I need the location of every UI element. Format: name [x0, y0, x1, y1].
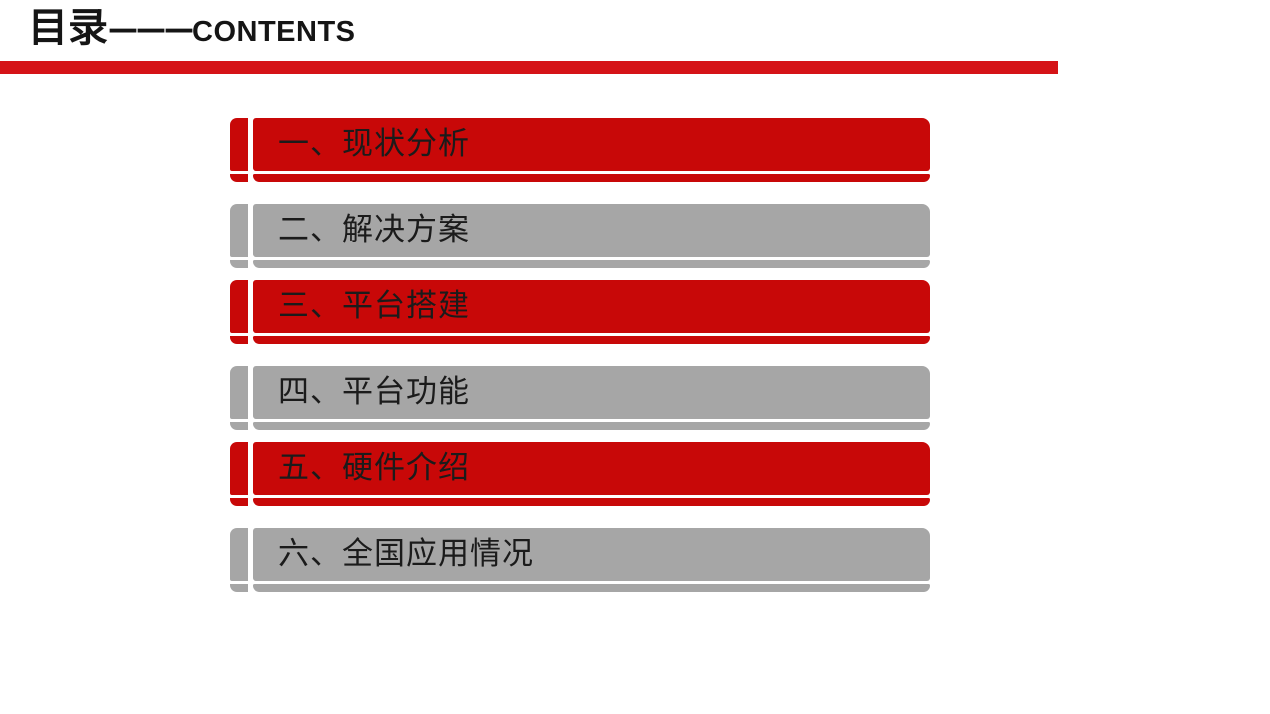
item-bar[interactable]: 四、平台功能: [253, 366, 930, 419]
item-bar-shadow: [253, 422, 930, 430]
item-bar[interactable]: 二、解决方案: [253, 204, 930, 257]
item-tab-block-shadow: [230, 498, 248, 506]
item-tab-block: [230, 442, 248, 495]
item-tab-block-shadow: [230, 422, 248, 430]
list-item[interactable]: 五、硬件介绍: [230, 442, 930, 514]
item-bar-shadow: [253, 260, 930, 268]
item-tab-block: [230, 528, 248, 581]
item-bar[interactable]: 五、硬件介绍: [253, 442, 930, 495]
item-tab-block: [230, 280, 248, 333]
list-item-label: 四、平台功能: [278, 377, 470, 408]
item-bar[interactable]: 三、平台搭建: [253, 280, 930, 333]
item-bar-shadow: [253, 584, 930, 592]
list-item[interactable]: 四、平台功能: [230, 366, 930, 430]
item-bar[interactable]: 六、全国应用情况: [253, 528, 930, 581]
item-tab-block-shadow: [230, 584, 248, 592]
item-tab-block-shadow: [230, 260, 248, 268]
list-item[interactable]: 二、解决方案: [230, 204, 930, 268]
list-item-label: 六、全国应用情况: [278, 539, 534, 570]
page-title-cn: 目录: [28, 8, 108, 48]
list-item[interactable]: 六、全国应用情况: [230, 528, 930, 592]
slide-canvas: 目录———CONTENTS 一、现状分析 二、解决方案 三、平台搭建: [0, 0, 1270, 714]
list-item-label: 五、硬件介绍: [278, 453, 470, 484]
item-tab-block: [230, 118, 248, 171]
item-tab-block: [230, 204, 248, 257]
list-item-label: 二、解决方案: [278, 215, 470, 246]
list-item[interactable]: 三、平台搭建: [230, 280, 930, 352]
list-item[interactable]: 一、现状分析: [230, 118, 930, 190]
list-item-label: 一、现状分析: [278, 129, 470, 160]
item-bar[interactable]: 一、现状分析: [253, 118, 930, 171]
item-bar-shadow: [253, 174, 930, 182]
item-bar-shadow: [253, 498, 930, 506]
item-tab-block: [230, 366, 248, 419]
contents-list: 一、现状分析 二、解决方案 三、平台搭建 四、平台功能: [230, 118, 930, 604]
header-divider-rule: [0, 61, 1058, 74]
item-tab-block-shadow: [230, 174, 248, 182]
item-tab-block-shadow: [230, 336, 248, 344]
page-title: 目录———CONTENTS: [28, 8, 356, 56]
list-item-label: 三、平台搭建: [278, 291, 470, 322]
item-bar-shadow: [253, 336, 930, 344]
page-title-en: CONTENTS: [192, 18, 356, 47]
page-title-dash: ———: [108, 15, 192, 45]
